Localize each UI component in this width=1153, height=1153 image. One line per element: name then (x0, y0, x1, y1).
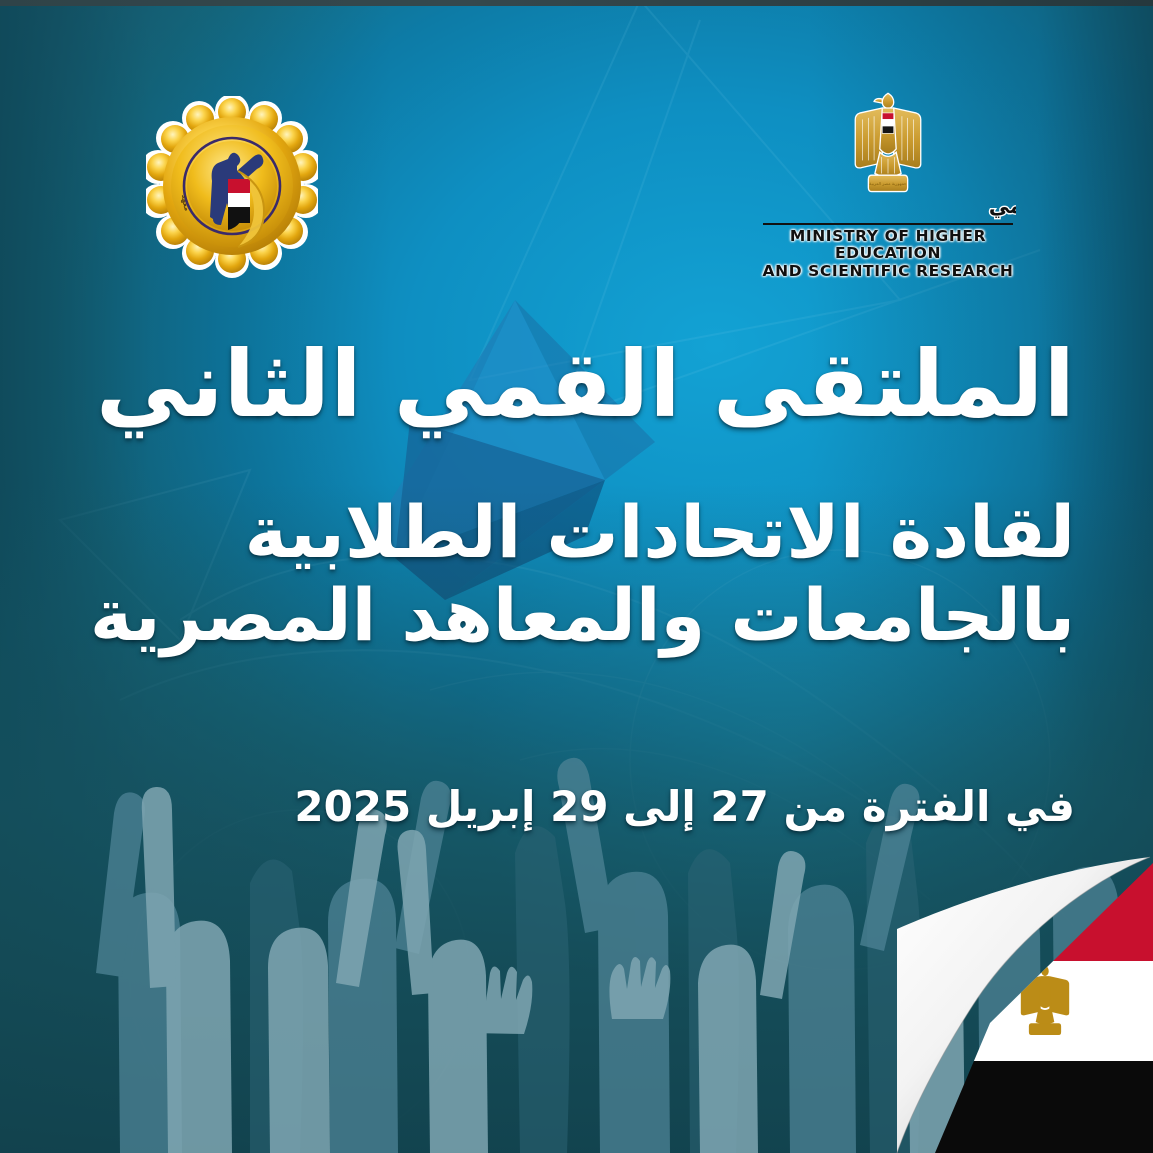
seal-icon: وزارة التعليم العالي والبحث العلمي معهد … (146, 96, 318, 278)
top-edge-strip (0, 0, 1153, 6)
higher-education-seal-logo: وزارة التعليم العالي والبحث العلمي معهد … (146, 96, 318, 278)
egypt-flag-page-curl (895, 853, 1153, 1153)
headline-block: الملتقى القمي الثاني لقادة الاتحادات الط… (78, 338, 1075, 653)
ministry-english-line1: MINISTRY OF HIGHER EDUCATION (752, 228, 1024, 263)
headline-line-2: لقادة الاتحادات الطلابية (78, 496, 1075, 569)
ministry-english-line2: AND SCIENTIFIC RESEARCH (752, 263, 1024, 280)
event-poster: وزارة التعليم العالي والبحث العلمي معهد … (0, 0, 1153, 1153)
svg-text:وزارة التعليم العالي والبحث ال: وزارة التعليم العالي والبحث العلمي (988, 194, 1015, 218)
ministry-divider (763, 223, 1013, 225)
ministry-english-title: MINISTRY OF HIGHER EDUCATION AND SCIENTI… (752, 228, 1024, 280)
headline-line-3: بالجامعات والمعاهد المصرية (78, 579, 1075, 652)
ministry-arabic-title: وزارة التعليم العالي والبحث العلمي (761, 191, 1016, 220)
event-dateline: في الفترة من 27 إلى 29 إبريل 2025 (78, 782, 1075, 831)
headline-line-1: الملتقى القمي الثاني (78, 338, 1075, 432)
eagle-of-saladin-icon: جمهورية مصر العربية (840, 90, 936, 195)
ministry-logo: جمهورية مصر العربية وزارة التعليم العالي… (752, 90, 1024, 280)
svg-text:جمهورية مصر العربية: جمهورية مصر العربية (869, 182, 907, 187)
